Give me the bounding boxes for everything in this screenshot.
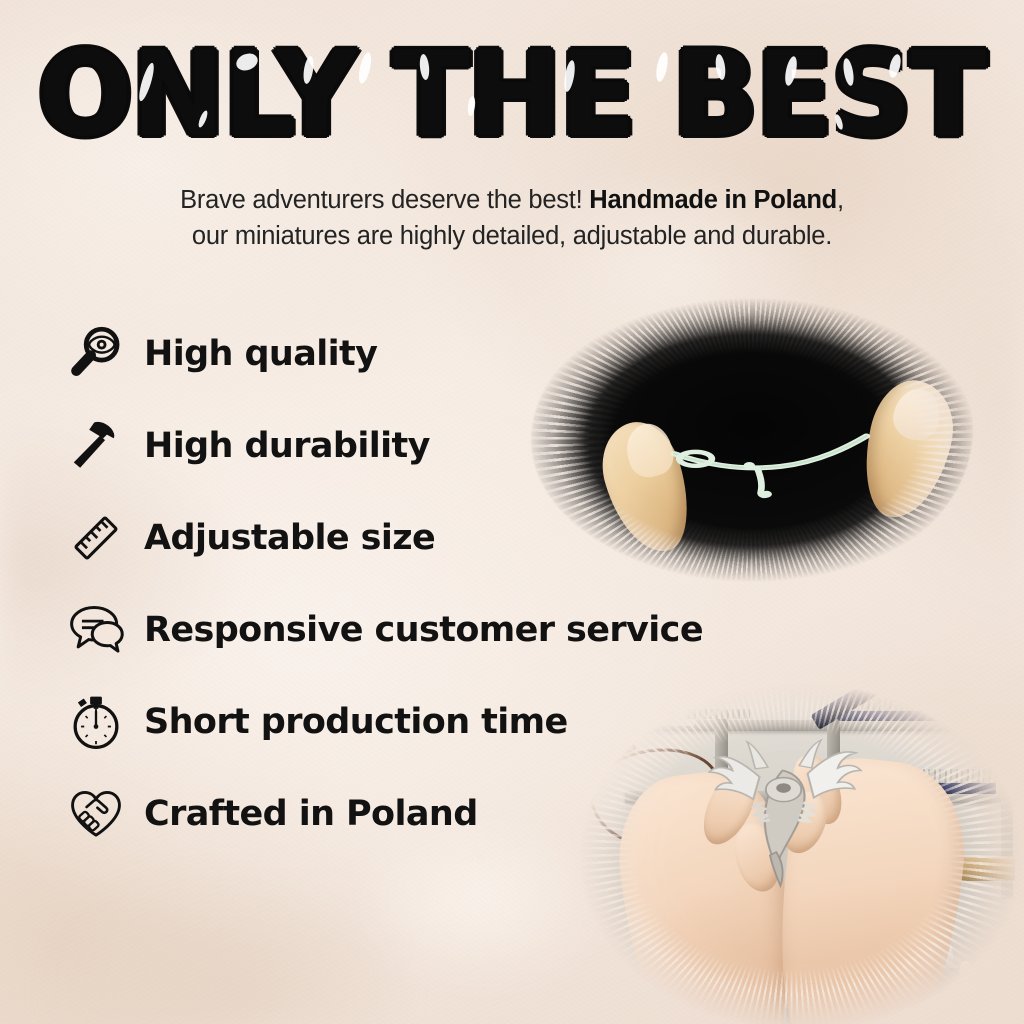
painting-workshop-photo-content bbox=[560, 676, 1024, 1024]
subtitle-line-1: Brave adventurers deserve the best! Hand… bbox=[0, 182, 1024, 218]
ruler-icon bbox=[62, 504, 130, 572]
hammer-icon bbox=[62, 412, 130, 480]
subtitle-line-1-post: , bbox=[837, 186, 844, 214]
flexible-miniature-photo-content bbox=[512, 282, 992, 598]
subtitle-line-1-bold: Handmade in Poland bbox=[589, 186, 837, 214]
speech-bubbles-icon bbox=[62, 596, 130, 664]
small-miniature-2 bbox=[959, 961, 973, 982]
painting-workshop-photo bbox=[560, 676, 1024, 1024]
promo-banner: ONLY THE BEST Brave adventurers deserve … bbox=[0, 0, 1024, 1024]
feature-label: Responsive customer service bbox=[144, 610, 703, 650]
flexible-miniature-photo bbox=[512, 282, 992, 598]
subtitle-line-2: our miniatures are highly detailed, adju… bbox=[0, 218, 1024, 254]
feature-label: Crafted in Poland bbox=[144, 794, 478, 834]
feature-label: Short production time bbox=[144, 702, 568, 742]
feature-label: Adjustable size bbox=[144, 518, 435, 558]
feature-label: High quality bbox=[144, 334, 377, 374]
magnifier-eye-icon bbox=[62, 320, 130, 388]
headline-container: ONLY THE BEST bbox=[0, 36, 1024, 140]
page-title: ONLY THE BEST bbox=[38, 36, 985, 152]
miniature-clutter-shelf bbox=[685, 709, 750, 719]
subtitle-line-1-pre: Brave adventurers deserve the best! bbox=[180, 186, 589, 214]
handshake-heart-icon bbox=[62, 780, 130, 848]
feature-label: High durability bbox=[144, 426, 430, 466]
dragon-miniature bbox=[699, 732, 866, 892]
stopwatch-icon bbox=[62, 688, 130, 756]
subtitle: Brave adventurers deserve the best! Hand… bbox=[0, 182, 1024, 254]
flexible-miniature-part bbox=[661, 431, 891, 501]
